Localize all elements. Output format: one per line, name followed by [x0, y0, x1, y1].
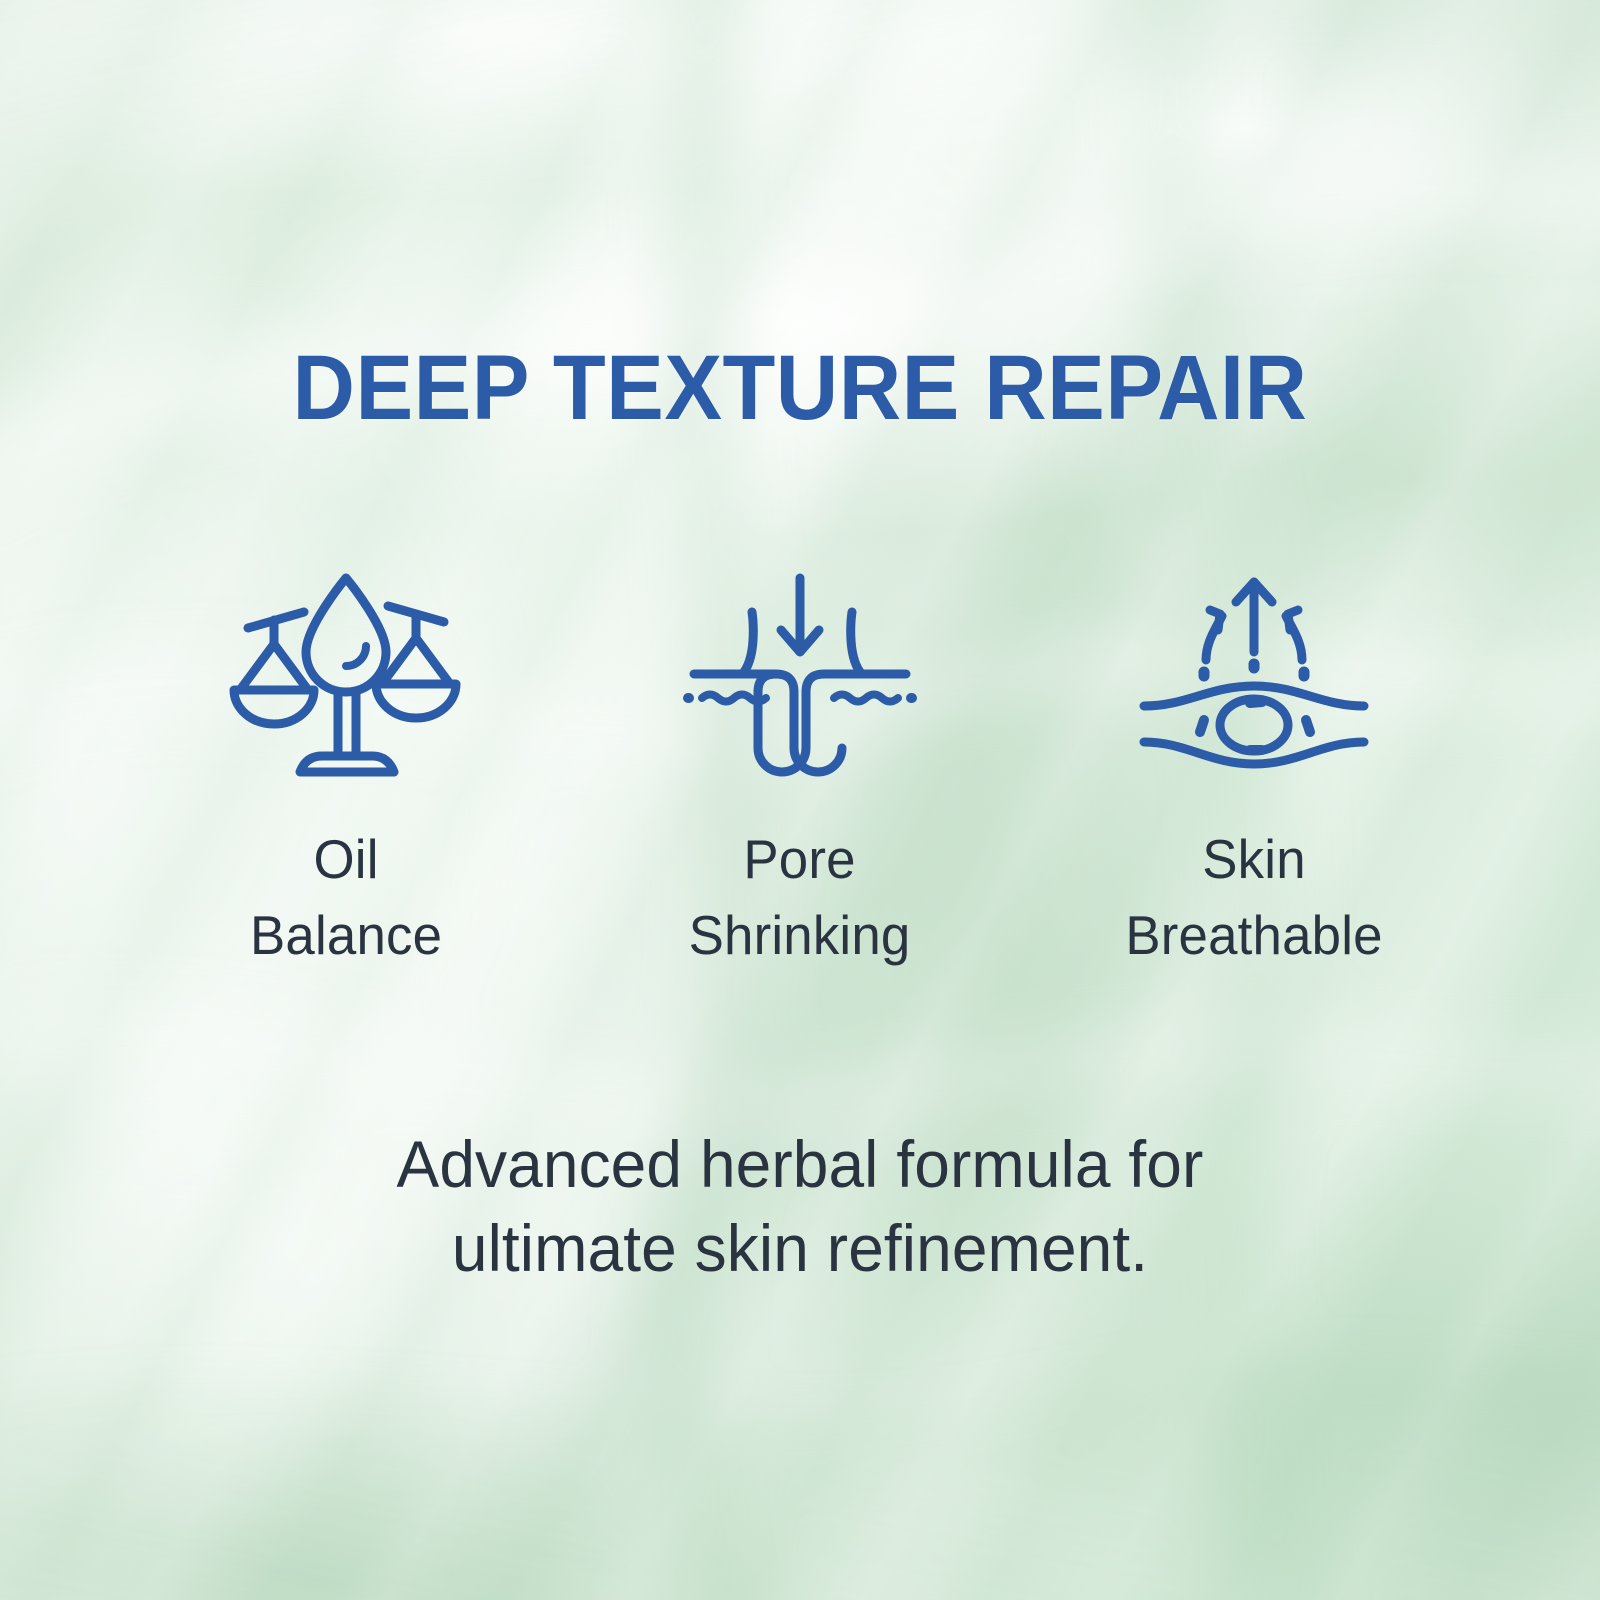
balance-scale-droplet-icon	[226, 560, 466, 800]
feature-label-line1: Skin	[1202, 828, 1305, 890]
skin-breathable-icon	[1134, 560, 1374, 800]
feature-label-line1: Pore	[744, 828, 856, 890]
pore-shrinking-icon	[680, 560, 920, 800]
promo-content: DEEP TEXTURE REPAIR	[0, 0, 1600, 1600]
feature-label: Pore Shrinking	[689, 822, 911, 974]
feature-list: Oil Balance	[150, 560, 1450, 974]
tagline: Advanced herbal formula for ultimate ski…	[24, 1122, 1576, 1291]
feature-label-line1: Oil	[313, 828, 378, 890]
feature-label-line2: Balance	[250, 898, 442, 974]
feature-label: Oil Balance	[250, 822, 442, 974]
feature-label: Skin Breathable	[1125, 822, 1382, 974]
feature-skin-breathable: Skin Breathable	[1058, 560, 1450, 974]
page-title: DEEP TEXTURE REPAIR	[48, 336, 1552, 441]
tagline-line1: Advanced herbal formula for	[24, 1122, 1576, 1206]
feature-label-line2: Breathable	[1125, 898, 1382, 974]
feature-pore-shrinking: Pore Shrinking	[604, 560, 996, 974]
feature-label-line2: Shrinking	[689, 898, 911, 974]
tagline-line2: ultimate skin refinement.	[24, 1206, 1576, 1290]
feature-oil-balance: Oil Balance	[150, 560, 542, 974]
